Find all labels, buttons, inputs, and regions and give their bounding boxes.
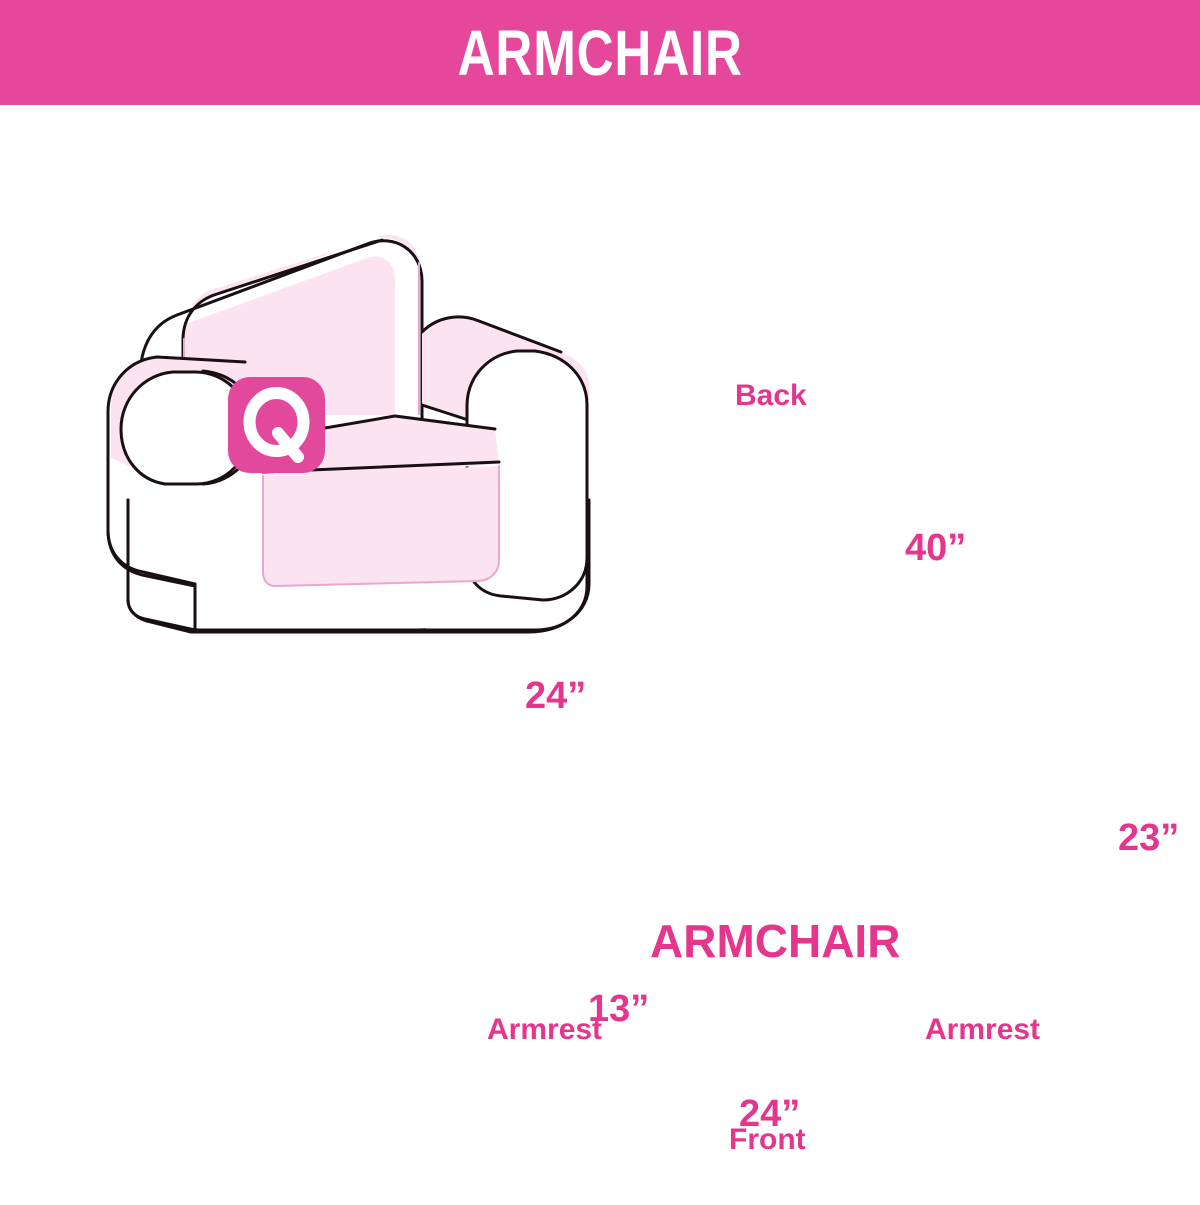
dimension-label-23: 23” [1118, 819, 1179, 857]
dimension-label-24-bottom: 24” [739, 1095, 800, 1133]
dimension-label-40: 40” [905, 529, 966, 567]
content-stage: Back Armrest Armrest Front ARMCHAIR 40” … [0, 105, 1200, 1200]
cover-pattern-diagram: Back Armrest Armrest Front ARMCHAIR 40” … [0, 105, 1200, 1200]
page-title: ARMCHAIR [457, 21, 742, 85]
panel-label-armrest-left: Armrest [487, 1015, 602, 1045]
page-header: ARMCHAIR [0, 0, 1200, 105]
diagram-center-label: ARMCHAIR [650, 918, 900, 964]
panel-label-back: Back [735, 381, 807, 411]
dimension-label-24-top: 24” [525, 677, 586, 715]
panel-label-armrest-right: Armrest [925, 1015, 1040, 1045]
dimension-label-13: 13” [588, 990, 649, 1028]
